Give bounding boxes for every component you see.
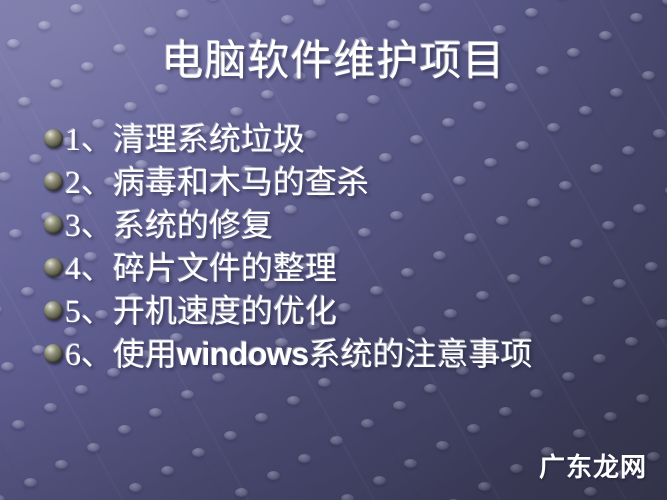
background-pebble-dot <box>510 464 523 473</box>
background-pebble-dot <box>387 20 400 29</box>
background-pebble-dot <box>630 13 643 22</box>
list-item-label: 1、清理系统垃圾 <box>65 119 305 159</box>
background-pebble-dot <box>267 471 280 480</box>
background-pebble-dot <box>653 129 666 138</box>
presentation-slide: 电脑软件维护项目 1、清理系统垃圾 2、病毒和木马的查杀 3、系统的修复 4、碎… <box>0 0 667 500</box>
background-pebble-dot <box>87 443 100 452</box>
background-pebble-dot <box>75 385 88 394</box>
background-pebble-dot <box>287 396 300 405</box>
background-pebble-dot <box>261 90 274 99</box>
background-pebble-dot <box>24 478 37 487</box>
background-pebble-dot <box>281 15 294 24</box>
background-pebble-dot <box>298 454 311 463</box>
bullet-list: 1、清理系统垃圾 2、病毒和木马的查杀 3、系统的修复 4、碎片文件的整理 5、… <box>44 117 647 375</box>
sphere-bullet-icon <box>44 129 63 148</box>
background-pebble-dot <box>149 408 162 417</box>
background-pebble-dot <box>21 287 34 296</box>
background-pebble-dot <box>341 494 354 500</box>
list-item[interactable]: 2、病毒和木马的查杀 <box>44 160 647 203</box>
background-pebble-dot <box>499 407 512 416</box>
background-pebble-dot <box>610 88 623 97</box>
background-pebble-dot <box>207 0 220 1</box>
background-pebble-dot <box>181 390 194 399</box>
sphere-bullet-icon <box>44 344 63 363</box>
background-pebble-dot <box>224 431 237 440</box>
background-pebble-dot <box>424 384 437 393</box>
background-pebble-dot <box>129 483 142 492</box>
background-pebble-dot <box>530 389 543 398</box>
background-pebble-dot <box>330 436 343 445</box>
background-pebble-dot <box>192 448 205 457</box>
background-pebble-dot <box>361 419 374 428</box>
background-pebble-dot <box>124 102 137 111</box>
background-pebble-dot <box>235 488 248 497</box>
background-pebble-dot <box>255 413 268 422</box>
list-item[interactable]: 3、系统的修复 <box>44 203 647 246</box>
sphere-bullet-icon <box>44 301 63 320</box>
background-pebble-dot <box>18 97 31 106</box>
background-pebble-dot <box>373 476 386 485</box>
list-item[interactable]: 5、开机速度的优化 <box>44 289 647 332</box>
background-pebble-dot <box>161 466 174 475</box>
list-item[interactable]: 1、清理系统垃圾 <box>44 117 647 160</box>
background-pebble-dot <box>9 229 22 238</box>
background-pebble-dot <box>318 378 331 387</box>
list-item[interactable]: 4、碎片文件的整理 <box>44 246 647 289</box>
background-pebble-dot <box>176 9 189 18</box>
background-pebble-dot <box>573 429 586 438</box>
list-item-label: 4、碎片文件的整理 <box>65 248 337 288</box>
background-pebble-dot <box>579 106 592 115</box>
background-pebble-dot <box>419 3 432 12</box>
sphere-bullet-icon <box>44 258 63 277</box>
list-item-label: 6、使用windows系统的注意事项 <box>65 334 533 374</box>
background-pebble-dot <box>230 107 243 116</box>
background-pebble-dot <box>584 487 597 496</box>
background-pebble-dot <box>0 172 11 181</box>
background-pebble-dot <box>38 21 51 30</box>
background-pebble-dot <box>29 154 42 163</box>
background-pebble-dot <box>367 95 380 104</box>
background-pebble-dot <box>70 4 83 13</box>
background-pebble-dot <box>436 441 449 450</box>
background-pebble-dot <box>604 412 617 421</box>
list-item-label: 2、病毒和木马的查杀 <box>65 162 369 202</box>
background-pebble-dot <box>662 0 667 5</box>
background-pebble-dot <box>12 420 25 429</box>
background-pebble-dot <box>393 401 406 410</box>
background-pebble-dot <box>525 8 538 17</box>
background-pebble-dot <box>647 452 660 461</box>
background-pebble-dot <box>1 362 14 371</box>
background-pebble-dot <box>493 25 506 34</box>
latin-text-run: windows <box>177 336 309 372</box>
background-pebble-dot <box>55 460 68 469</box>
background-pebble-dot <box>473 101 486 110</box>
watermark-label: 广东龙网 <box>539 453 647 483</box>
sphere-bullet-icon <box>44 215 63 234</box>
list-item-label: 3、系统的修复 <box>65 205 273 245</box>
list-item-label: 5、开机速度的优化 <box>65 291 337 331</box>
list-item[interactable]: 6、使用windows系统的注意事项 <box>44 332 647 375</box>
sphere-bullet-icon <box>44 172 63 191</box>
background-pebble-dot <box>636 394 649 403</box>
background-pebble-dot <box>118 425 131 434</box>
background-pebble-dot <box>313 0 326 6</box>
background-pebble-dot <box>467 424 480 433</box>
background-pebble-dot <box>656 319 667 328</box>
background-pebble-dot <box>478 482 491 491</box>
slide-title: 电脑软件维护项目 <box>0 36 667 88</box>
background-pebble-dot <box>44 403 57 412</box>
background-pebble-dot <box>0 305 2 314</box>
background-pebble-dot <box>404 459 417 468</box>
background-pebble-dot <box>0 495 5 500</box>
background-pebble-dot <box>144 27 157 36</box>
